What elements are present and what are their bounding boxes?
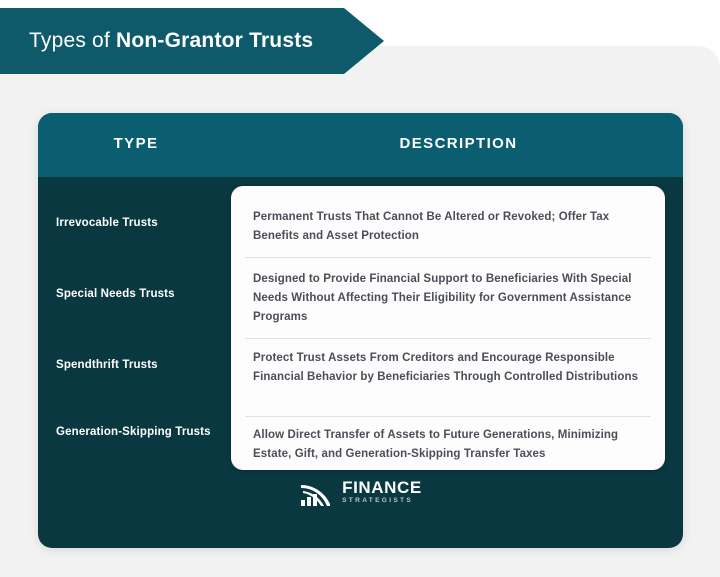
row-divider	[245, 416, 651, 417]
page-title: Types of Non-Grantor Trusts	[0, 29, 313, 53]
type-column: Irrevocable Trusts Special Needs Trusts …	[38, 177, 234, 469]
column-header-description: DESCRIPTION	[234, 135, 683, 152]
logo-name: FINANCE	[342, 479, 422, 496]
table-row: Special Needs Trusts	[56, 286, 234, 302]
page-title-prefix: Types of	[29, 29, 116, 52]
table-row: Irrevocable Trusts	[56, 215, 234, 231]
description-cell-special-needs: Designed to Provide Financial Support to…	[253, 270, 653, 327]
trust-types-card: TYPE DESCRIPTION Irrevocable Trusts Spec…	[38, 113, 683, 548]
table-row: Generation-Skipping Trusts	[56, 424, 234, 440]
table-row: Spendthrift Trusts	[56, 357, 234, 373]
table-header-row: TYPE DESCRIPTION	[38, 113, 683, 177]
logo-wordmark: FINANCE STRATEGISTS	[342, 479, 422, 505]
row-divider	[245, 338, 651, 339]
row-divider	[245, 257, 651, 258]
brand-logo: FINANCE STRATEGISTS	[38, 477, 683, 507]
logo-tagline: STRATEGISTS	[342, 498, 422, 505]
column-header-type: TYPE	[38, 135, 234, 152]
bar-chart-swoosh-icon	[299, 477, 335, 507]
description-cell-irrevocable: Permanent Trusts That Cannot Be Altered …	[253, 208, 653, 246]
page-title-emphasis: Non-Grantor Trusts	[116, 29, 313, 52]
description-column: Permanent Trusts That Cannot Be Altered …	[231, 186, 665, 470]
title-banner: Types of Non-Grantor Trusts	[0, 8, 384, 74]
logo-inner: FINANCE STRATEGISTS	[299, 477, 422, 507]
description-cell-generation-skipping: Allow Direct Transfer of Assets to Futur…	[253, 426, 653, 464]
description-cell-spendthrift: Protect Trust Assets From Creditors and …	[253, 349, 653, 387]
table-body: Irrevocable Trusts Special Needs Trusts …	[38, 177, 683, 548]
